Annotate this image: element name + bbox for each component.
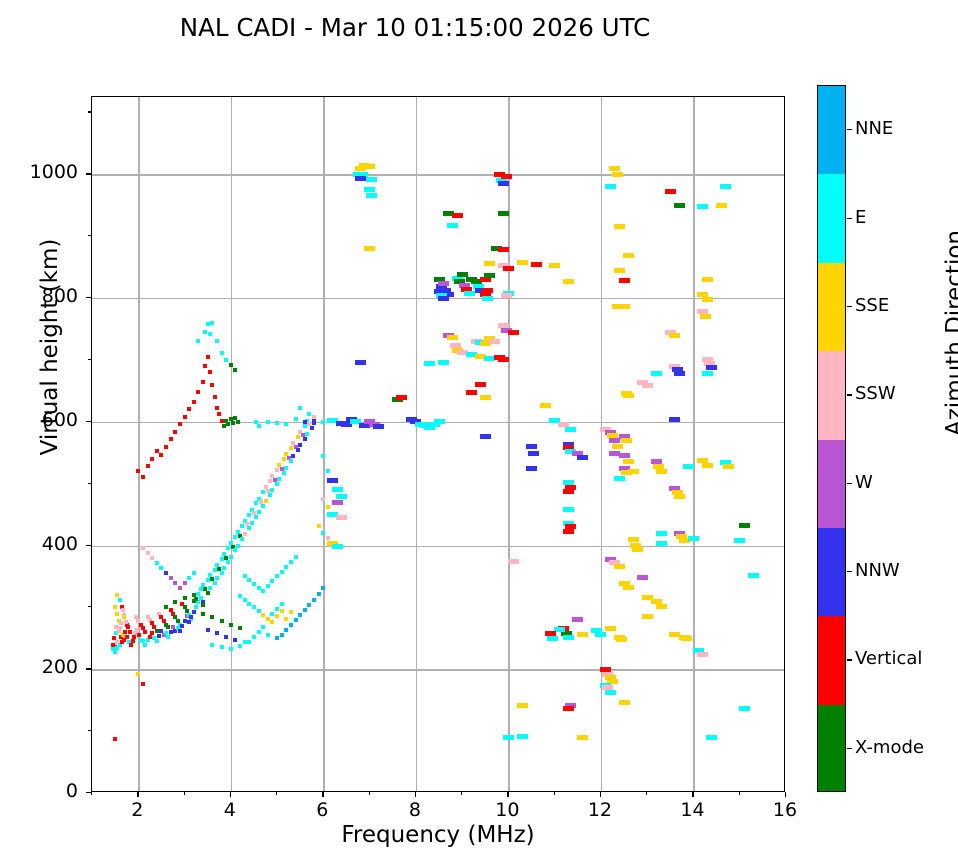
echo-marker bbox=[136, 469, 140, 473]
echo-marker bbox=[623, 459, 634, 464]
echo-marker bbox=[178, 422, 182, 426]
echo-marker bbox=[240, 524, 244, 528]
echo-marker bbox=[173, 430, 177, 434]
y-tick-major bbox=[86, 792, 91, 793]
echo-marker bbox=[132, 635, 136, 639]
echo-marker bbox=[115, 646, 119, 650]
colorbar-title: Azimuth Direction bbox=[942, 168, 958, 498]
echo-marker bbox=[115, 612, 119, 616]
gridline-vertical bbox=[693, 97, 694, 791]
x-tick-major bbox=[785, 792, 786, 797]
echo-marker bbox=[178, 629, 182, 633]
echo-marker bbox=[528, 451, 539, 456]
echo-marker bbox=[169, 576, 173, 580]
colorbar-segment-x-mode bbox=[818, 705, 845, 792]
echo-marker bbox=[128, 630, 132, 634]
colorbar-tick bbox=[847, 748, 852, 749]
x-tick-minor bbox=[276, 792, 277, 795]
echo-marker bbox=[517, 260, 528, 265]
echo-marker bbox=[264, 499, 268, 503]
gridline-vertical bbox=[138, 97, 139, 791]
x-tick-major bbox=[600, 792, 601, 797]
echo-marker bbox=[475, 382, 486, 387]
echo-marker bbox=[484, 261, 495, 266]
colorbar-label-nnw: NNW bbox=[855, 560, 900, 581]
echo-marker bbox=[637, 575, 648, 580]
colorbar-tick bbox=[847, 218, 852, 219]
y-tick-minor bbox=[88, 730, 91, 731]
echo-marker bbox=[210, 643, 214, 647]
x-tick-major bbox=[137, 792, 138, 797]
echo-marker bbox=[310, 426, 314, 430]
echo-marker bbox=[164, 571, 168, 575]
echo-marker bbox=[122, 615, 126, 619]
echo-marker bbox=[595, 632, 606, 637]
echo-marker bbox=[294, 555, 298, 559]
echo-marker bbox=[298, 443, 302, 447]
echo-marker bbox=[563, 635, 574, 640]
echo-marker bbox=[215, 631, 219, 635]
echo-marker bbox=[270, 488, 274, 492]
echo-marker bbox=[700, 314, 711, 319]
echo-marker bbox=[438, 296, 449, 301]
echo-marker bbox=[280, 609, 284, 613]
echo-marker bbox=[201, 380, 205, 384]
echo-marker bbox=[294, 417, 298, 421]
echo-marker bbox=[619, 453, 630, 458]
echo-marker bbox=[364, 164, 375, 169]
plot-axes bbox=[91, 96, 785, 792]
echo-marker bbox=[280, 602, 284, 606]
gridline-horizontal bbox=[92, 669, 784, 670]
echo-marker bbox=[240, 537, 244, 541]
echo-marker bbox=[321, 420, 325, 424]
echo-marker bbox=[683, 464, 694, 469]
echo-marker bbox=[224, 635, 228, 639]
echo-marker bbox=[261, 504, 265, 508]
echo-marker bbox=[498, 211, 509, 216]
y-tick-major bbox=[86, 668, 91, 669]
echo-marker bbox=[674, 494, 685, 499]
echo-marker bbox=[155, 629, 159, 633]
x-tick-minor bbox=[554, 792, 555, 795]
colorbar-segment-w bbox=[818, 440, 845, 529]
echo-marker bbox=[277, 477, 281, 481]
echo-marker bbox=[498, 247, 509, 252]
echo-marker bbox=[508, 330, 519, 335]
echo-marker bbox=[355, 176, 366, 181]
echo-marker bbox=[270, 612, 274, 616]
echo-marker bbox=[296, 435, 300, 439]
colorbar-tick bbox=[847, 394, 852, 395]
echo-marker bbox=[169, 630, 173, 634]
echo-marker bbox=[282, 471, 286, 475]
echo-marker bbox=[199, 596, 203, 600]
colorbar-segment-nnw bbox=[818, 528, 845, 617]
echo-marker bbox=[577, 455, 588, 460]
echo-marker bbox=[517, 734, 528, 739]
echo-marker bbox=[702, 463, 713, 468]
echo-marker bbox=[155, 639, 159, 643]
echo-marker bbox=[254, 501, 258, 505]
echo-marker bbox=[605, 690, 616, 695]
echo-marker bbox=[247, 640, 251, 644]
echo-marker bbox=[628, 537, 639, 542]
echo-marker bbox=[126, 625, 130, 629]
echo-marker bbox=[157, 634, 161, 638]
echo-marker bbox=[697, 204, 708, 209]
echo-marker bbox=[208, 332, 212, 336]
echo-marker bbox=[632, 547, 643, 552]
echo-marker bbox=[194, 605, 198, 609]
echo-marker bbox=[656, 604, 667, 609]
echo-marker bbox=[280, 633, 284, 637]
echo-marker bbox=[257, 424, 261, 428]
echo-marker bbox=[229, 555, 233, 559]
echo-marker bbox=[332, 544, 343, 549]
echo-marker bbox=[196, 600, 200, 604]
page-title: NAL CADI - Mar 10 01:15:00 2026 UTC bbox=[0, 13, 830, 42]
echo-marker bbox=[150, 631, 154, 635]
gridline-vertical bbox=[508, 97, 509, 791]
y-tick-major bbox=[86, 297, 91, 298]
echo-marker bbox=[366, 193, 377, 198]
echo-marker bbox=[289, 459, 293, 463]
echo-marker bbox=[150, 457, 154, 461]
echo-marker bbox=[480, 395, 491, 400]
echo-marker bbox=[605, 626, 616, 631]
echo-marker bbox=[484, 273, 495, 278]
echo-marker bbox=[220, 351, 224, 355]
echo-marker bbox=[466, 390, 477, 395]
echo-marker bbox=[199, 587, 203, 591]
echo-marker bbox=[148, 635, 152, 639]
echo-marker bbox=[192, 400, 196, 404]
echo-marker bbox=[166, 625, 170, 629]
echo-marker bbox=[268, 493, 272, 497]
echo-marker bbox=[266, 617, 270, 621]
echo-marker bbox=[489, 339, 500, 344]
echo-marker bbox=[268, 479, 272, 483]
echo-marker bbox=[129, 643, 133, 647]
echo-marker bbox=[364, 187, 375, 192]
echo-marker bbox=[464, 291, 475, 296]
echo-marker bbox=[220, 419, 224, 423]
gridline-vertical bbox=[323, 97, 324, 791]
y-tick-minor bbox=[88, 235, 91, 236]
echo-marker bbox=[275, 468, 279, 472]
echo-marker bbox=[438, 360, 449, 365]
x-tick-minor bbox=[461, 792, 462, 795]
y-tick-major bbox=[86, 421, 91, 422]
echo-marker bbox=[266, 420, 270, 424]
echo-marker bbox=[438, 281, 449, 286]
echo-marker bbox=[656, 541, 667, 546]
echo-marker bbox=[125, 635, 129, 639]
echo-marker bbox=[508, 559, 519, 564]
echo-marker bbox=[183, 619, 187, 623]
colorbar-label-x-mode: X-mode bbox=[855, 737, 924, 758]
echo-marker bbox=[113, 737, 117, 741]
echo-marker bbox=[206, 591, 210, 595]
echo-marker bbox=[210, 615, 214, 619]
echo-marker bbox=[312, 598, 316, 602]
echo-marker bbox=[303, 420, 307, 424]
echo-marker bbox=[291, 454, 295, 458]
echo-marker bbox=[196, 390, 200, 394]
echo-marker bbox=[317, 524, 321, 528]
echo-marker bbox=[206, 578, 210, 582]
echo-marker bbox=[321, 497, 325, 501]
echo-marker bbox=[563, 489, 574, 494]
echo-marker bbox=[254, 515, 258, 519]
echo-marker bbox=[577, 735, 588, 740]
x-tick-major bbox=[415, 792, 416, 797]
echo-marker bbox=[183, 581, 187, 585]
echo-marker bbox=[614, 564, 625, 569]
echo-marker bbox=[247, 526, 251, 530]
colorbar-label-e: E bbox=[855, 207, 866, 228]
x-tick-label: 16 bbox=[755, 799, 815, 821]
colorbar-tick bbox=[847, 571, 852, 572]
echo-marker bbox=[734, 538, 745, 543]
colorbar-label-sse: SSE bbox=[855, 295, 889, 316]
echo-marker bbox=[563, 529, 574, 534]
y-tick-label: 400 bbox=[0, 533, 78, 555]
echo-marker bbox=[275, 482, 279, 486]
echo-marker bbox=[236, 544, 240, 548]
echo-marker bbox=[298, 613, 302, 617]
echo-marker bbox=[252, 635, 256, 639]
echo-marker bbox=[614, 224, 625, 229]
echo-marker bbox=[577, 632, 588, 637]
echo-marker bbox=[229, 363, 233, 367]
echo-marker bbox=[424, 361, 435, 366]
echo-marker bbox=[656, 531, 667, 536]
echo-marker bbox=[526, 444, 537, 449]
colorbar-segment-nne bbox=[818, 86, 845, 175]
echo-marker bbox=[243, 574, 247, 578]
echo-marker bbox=[164, 445, 168, 449]
echo-marker bbox=[275, 574, 279, 578]
echo-marker bbox=[257, 630, 261, 634]
colorbar-label-vertical: Vertical bbox=[855, 648, 922, 669]
echo-marker bbox=[526, 466, 537, 471]
echo-marker bbox=[247, 602, 251, 606]
echo-marker bbox=[303, 608, 307, 612]
echo-marker bbox=[189, 615, 193, 619]
echo-marker bbox=[605, 184, 616, 189]
echo-marker bbox=[563, 279, 574, 284]
echo-marker bbox=[307, 603, 311, 607]
echo-marker bbox=[135, 628, 139, 632]
echo-marker bbox=[238, 594, 242, 598]
echo-marker bbox=[169, 437, 173, 441]
echo-marker bbox=[220, 571, 224, 575]
echo-marker bbox=[233, 638, 237, 642]
echo-marker bbox=[206, 322, 210, 326]
echo-marker bbox=[321, 586, 325, 590]
echo-marker bbox=[665, 189, 676, 194]
y-axis-label: Virtual height (km) bbox=[37, 167, 63, 527]
echo-marker bbox=[739, 523, 750, 528]
echo-marker bbox=[284, 466, 288, 470]
echo-marker bbox=[257, 609, 261, 613]
echo-marker bbox=[121, 608, 125, 612]
echo-marker bbox=[266, 633, 270, 637]
echo-marker bbox=[669, 417, 680, 422]
echo-marker bbox=[619, 278, 630, 283]
echo-marker bbox=[150, 556, 154, 560]
echo-marker bbox=[173, 600, 177, 604]
echo-marker bbox=[118, 598, 122, 602]
echo-marker bbox=[183, 415, 187, 419]
echo-marker bbox=[651, 371, 662, 376]
echo-marker bbox=[366, 177, 377, 182]
echo-marker bbox=[303, 424, 307, 428]
echo-marker bbox=[498, 357, 509, 362]
colorbar-segment-ssw bbox=[818, 351, 845, 440]
x-tick-minor bbox=[369, 792, 370, 795]
colorbar-label-w: W bbox=[855, 472, 873, 493]
echo-marker bbox=[296, 448, 300, 452]
echo-marker bbox=[706, 735, 717, 740]
echo-marker bbox=[547, 636, 558, 641]
echo-marker bbox=[326, 469, 330, 473]
echo-marker bbox=[373, 424, 384, 429]
echo-marker bbox=[612, 444, 623, 449]
echo-marker bbox=[332, 487, 343, 492]
colorbar-tick bbox=[847, 483, 852, 484]
echo-marker bbox=[284, 617, 288, 621]
colorbar-label-nne: NNE bbox=[855, 118, 893, 139]
echo-marker bbox=[210, 321, 214, 325]
colorbar-segment-sse bbox=[818, 263, 845, 352]
echo-marker bbox=[201, 603, 205, 607]
echo-marker bbox=[452, 213, 463, 218]
echo-marker bbox=[215, 406, 219, 410]
echo-marker bbox=[252, 582, 256, 586]
echo-marker bbox=[180, 624, 184, 628]
echo-marker bbox=[447, 223, 458, 228]
x-tick-major bbox=[507, 792, 508, 797]
echo-marker bbox=[146, 464, 150, 468]
echo-marker bbox=[321, 454, 325, 458]
echo-marker bbox=[243, 532, 247, 536]
echo-marker bbox=[697, 652, 708, 657]
echo-marker bbox=[206, 628, 210, 632]
echo-marker bbox=[220, 619, 224, 623]
echo-marker bbox=[131, 639, 135, 643]
echo-marker bbox=[540, 403, 551, 408]
echo-marker bbox=[233, 368, 237, 372]
echo-marker bbox=[482, 296, 493, 301]
echo-marker bbox=[261, 490, 265, 494]
echo-marker bbox=[123, 630, 127, 634]
echo-marker bbox=[183, 596, 187, 600]
x-tick-label: 12 bbox=[570, 799, 630, 821]
echo-marker bbox=[261, 625, 265, 629]
echo-marker bbox=[236, 420, 240, 424]
echo-marker bbox=[305, 432, 309, 436]
echo-marker bbox=[619, 304, 630, 309]
echo-marker bbox=[233, 535, 237, 539]
echo-marker bbox=[257, 510, 261, 514]
echo-marker bbox=[141, 682, 145, 686]
echo-marker bbox=[113, 650, 117, 654]
echo-marker bbox=[159, 566, 163, 570]
echo-marker bbox=[220, 645, 224, 649]
echo-marker bbox=[166, 635, 170, 639]
echo-marker bbox=[355, 360, 366, 365]
echo-marker bbox=[563, 706, 574, 711]
echo-marker bbox=[226, 422, 230, 426]
echo-marker bbox=[280, 570, 284, 574]
echo-marker bbox=[224, 358, 228, 362]
echo-marker bbox=[498, 181, 509, 186]
echo-marker bbox=[748, 573, 759, 578]
echo-marker bbox=[321, 531, 325, 535]
gridline-vertical bbox=[231, 97, 232, 791]
echo-marker bbox=[250, 521, 254, 525]
echo-marker bbox=[434, 419, 445, 424]
x-tick-label: 14 bbox=[662, 799, 722, 821]
echo-marker bbox=[501, 293, 512, 298]
echo-marker bbox=[531, 262, 542, 267]
gridline-vertical bbox=[416, 97, 417, 791]
echo-marker bbox=[113, 605, 117, 609]
echo-marker bbox=[220, 557, 224, 561]
echo-marker bbox=[229, 647, 233, 651]
echo-marker bbox=[203, 364, 207, 368]
echo-marker bbox=[674, 203, 685, 208]
echo-marker bbox=[229, 623, 233, 627]
echo-marker bbox=[480, 434, 491, 439]
echo-marker bbox=[243, 598, 247, 602]
echo-marker bbox=[266, 584, 270, 588]
x-tick-label: 6 bbox=[292, 799, 352, 821]
x-axis-label: Frequency (MHz) bbox=[91, 822, 785, 848]
echo-marker bbox=[187, 620, 191, 624]
echo-marker bbox=[203, 330, 207, 334]
echo-marker bbox=[155, 561, 159, 565]
echo-marker bbox=[226, 560, 230, 564]
ionogram-figure: NAL CADI - Mar 10 01:15:00 2026 UTC 2468… bbox=[0, 0, 958, 857]
x-tick-minor bbox=[91, 792, 92, 795]
echo-marker bbox=[215, 339, 219, 343]
echo-marker bbox=[501, 174, 512, 179]
echo-marker bbox=[616, 637, 627, 642]
echo-marker bbox=[213, 568, 217, 572]
y-tick-minor bbox=[88, 359, 91, 360]
echo-marker bbox=[247, 513, 251, 517]
echo-marker bbox=[143, 630, 147, 634]
x-tick-label: 4 bbox=[200, 799, 260, 821]
echo-marker bbox=[503, 266, 514, 271]
echo-marker bbox=[702, 277, 713, 282]
echo-marker bbox=[192, 571, 196, 575]
echo-marker bbox=[233, 548, 237, 552]
colorbar-tick bbox=[847, 306, 852, 307]
echo-marker bbox=[261, 589, 265, 593]
echo-marker bbox=[614, 476, 625, 481]
echo-marker bbox=[517, 703, 528, 708]
echo-marker bbox=[257, 586, 261, 590]
echo-marker bbox=[642, 614, 653, 619]
echo-marker bbox=[119, 621, 123, 625]
y-tick-major bbox=[86, 173, 91, 174]
echo-marker bbox=[364, 246, 375, 251]
